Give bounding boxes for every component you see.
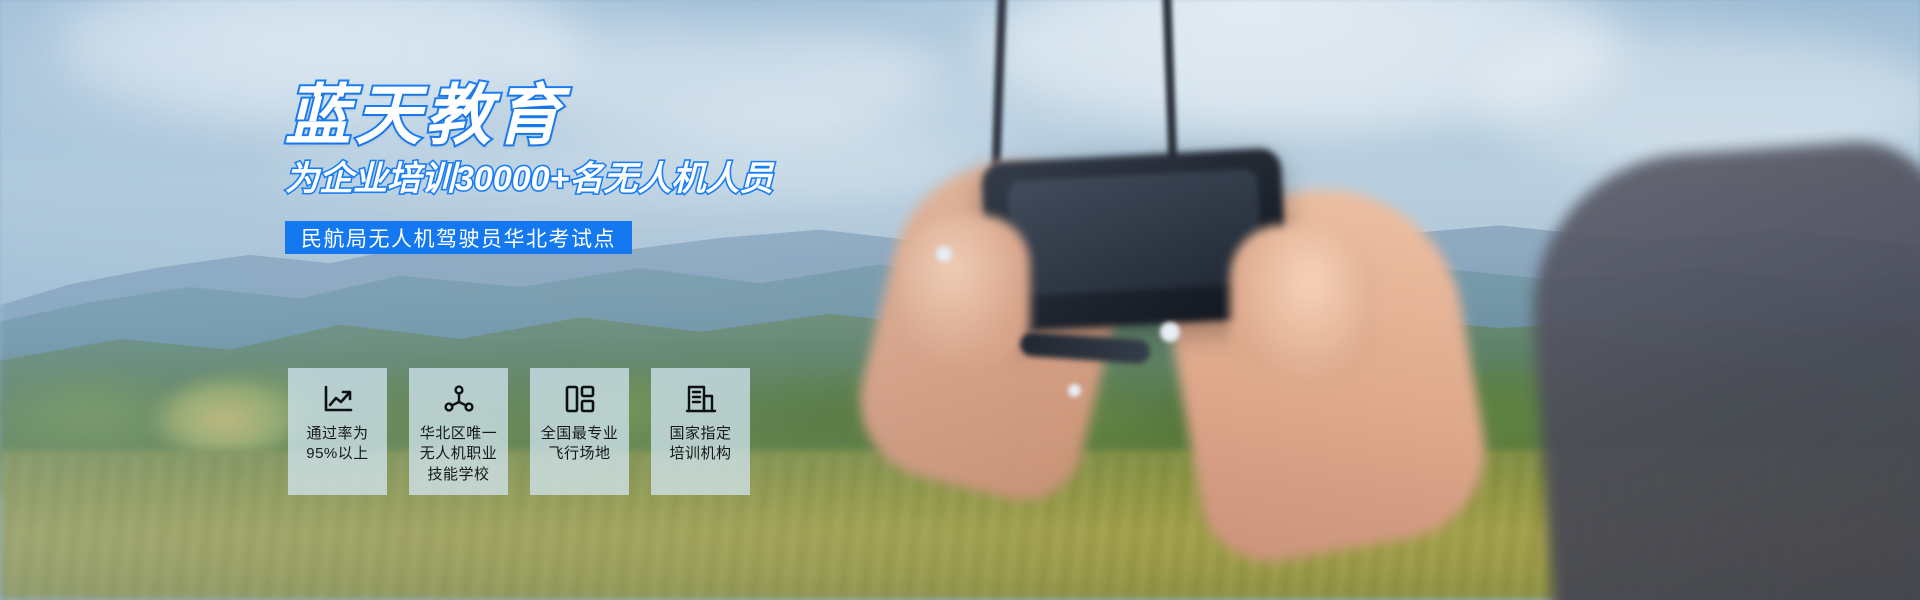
- network-nodes-icon: [442, 382, 476, 416]
- feature-card-label: 国家指定 培训机构: [665, 424, 735, 475]
- certification-badge: 民航局无人机驾驶员华北考试点: [285, 221, 632, 254]
- feature-card-only-school[interactable]: 华北区唯一 无人机职业 技能学校: [409, 368, 508, 495]
- banner-headline: 蓝天教育: [285, 82, 565, 148]
- feature-card-label: 华北区唯一 无人机职业 技能学校: [416, 424, 502, 495]
- feature-card-national-institution[interactable]: 国家指定 培训机构: [651, 368, 750, 495]
- layout-grid-icon: [563, 382, 597, 416]
- trend-up-chart-icon: [321, 382, 355, 416]
- banner-subheadline: 为企业培训30000+名无人机人员: [285, 162, 773, 196]
- hero-banner: 蓝天教育 为企业培训30000+名无人机人员 民航局无人机驾驶员华北考试点 通过…: [0, 0, 1920, 600]
- feature-card-label: 全国最专业 飞行场地: [537, 424, 623, 475]
- certification-badge-label: 民航局无人机驾驶员华北考试点: [301, 223, 616, 253]
- feature-card-pass-rate[interactable]: 通过率为 95%以上: [288, 368, 387, 495]
- feature-card-flight-field[interactable]: 全国最专业 飞行场地: [530, 368, 629, 495]
- feature-card-label: 通过率为 95%以上: [302, 424, 373, 475]
- feature-card-list: 通过率为 95%以上 华北区唯一 无人机职业 技能学校: [288, 368, 750, 495]
- banner-content: 蓝天教育 为企业培训30000+名无人机人员 民航局无人机驾驶员华北考试点 通过…: [0, 0, 1920, 600]
- building-icon: [684, 382, 718, 416]
